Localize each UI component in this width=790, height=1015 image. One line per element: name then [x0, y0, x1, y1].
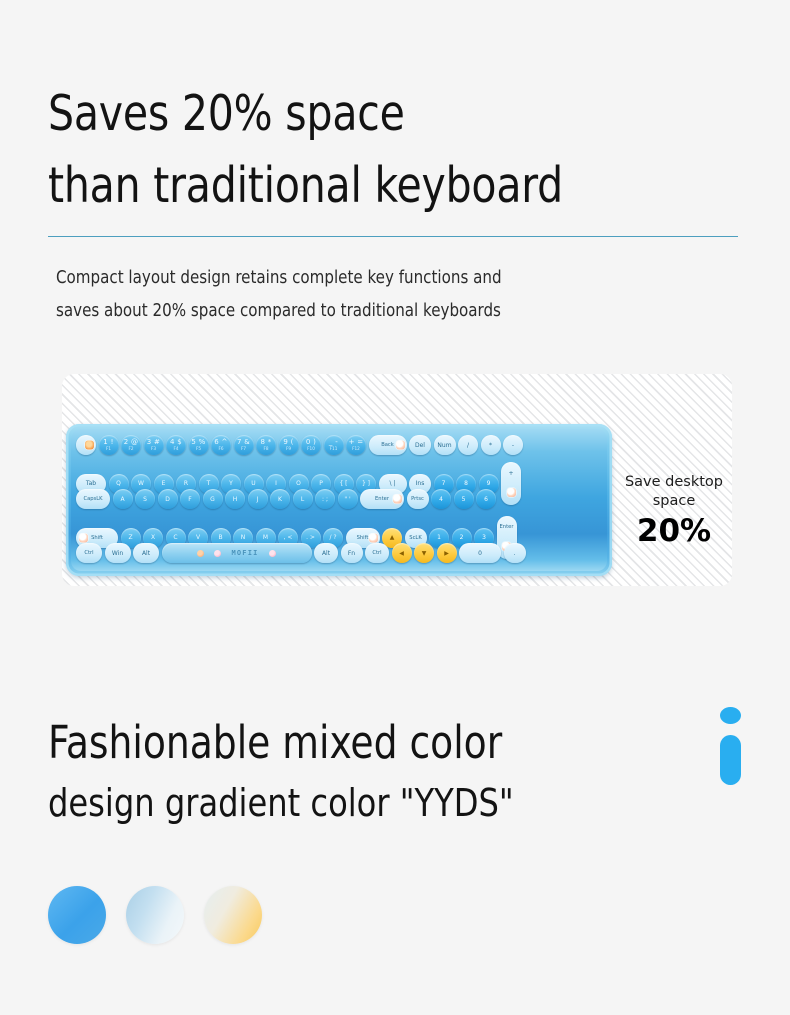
- key-label: Alt: [322, 550, 330, 557]
- headline-line-2: than traditional keyboard: [48, 150, 699, 222]
- key-label: , <: [284, 534, 293, 541]
- key-4-0-4[interactable]: 4 $F4: [166, 435, 186, 455]
- key-function-label: F11: [330, 447, 338, 451]
- key-ctrl-4-6[interactable]: Ctrl: [365, 543, 389, 563]
- key-blank-0-16[interactable]: /: [458, 435, 478, 455]
- key-label: R: [184, 480, 188, 487]
- key-label: 0: [478, 550, 482, 557]
- spacebar-sticker-right-icon: [269, 550, 276, 557]
- key-label: +: [508, 470, 513, 477]
- headline-divider: [48, 236, 738, 237]
- key-alt-4-2[interactable]: Alt: [133, 543, 159, 563]
- secondary-heading-line-2: design gradient color "YYDS": [48, 774, 668, 832]
- key-dual-label: 8 *F8: [260, 439, 271, 451]
- key-label: ◀: [399, 550, 404, 557]
- key-function-label: F4: [173, 447, 178, 451]
- key-label: / ?: [329, 534, 336, 541]
- color-swatch-amber[interactable]: [204, 886, 262, 944]
- key-label: Y: [229, 480, 233, 487]
- key-primary-label: 1 !: [103, 439, 113, 446]
- key-label: ▲: [390, 534, 395, 541]
- key-label: I: [275, 480, 277, 487]
- key-label: ▼: [422, 550, 427, 557]
- key-dual-label: 1 !F1: [103, 439, 113, 451]
- key-f-2-4[interactable]: F: [180, 489, 200, 509]
- color-swatch-blue[interactable]: [48, 886, 106, 944]
- key-s-2-2[interactable]: S: [135, 489, 155, 509]
- key-label: Enter: [500, 524, 514, 530]
- key-6-2-16[interactable]: 6: [476, 489, 496, 509]
- key-label: Num: [437, 442, 451, 449]
- key-5-0-5[interactable]: 5 %F5: [189, 435, 209, 455]
- headline-block: Saves 20% space than traditional keyboar…: [48, 78, 748, 222]
- key-label: 8: [464, 480, 468, 487]
- key-label: } ]: [362, 480, 370, 487]
- key-fn-4-5[interactable]: Fn: [341, 543, 363, 563]
- key-label: ScLK: [409, 535, 421, 541]
- key-label: F: [188, 496, 191, 503]
- key-label: Back: [381, 442, 394, 448]
- subcopy-line-2: saves about 20% space compared to tradit…: [56, 295, 728, 328]
- key-dual-label: 5 %F5: [191, 439, 205, 451]
- key-2-0-2[interactable]: 2 @F2: [121, 435, 141, 455]
- key-win-4-1[interactable]: Win: [105, 543, 131, 563]
- key-label: Shift: [357, 535, 369, 541]
- key-primary-label: 5 %: [191, 439, 205, 446]
- key-label: 2: [460, 534, 464, 541]
- key-9-0-9[interactable]: 9 (F9: [279, 435, 299, 455]
- key-1-0-1[interactable]: 1 !F1: [99, 435, 119, 455]
- color-swatch-row: [48, 886, 262, 944]
- keyboard-row-function-row: 1 !F12 @F23 #F34 $F45 %F56 ^F67 &F78 *F8…: [76, 435, 523, 455]
- key-dual-label: 4 $F4: [170, 439, 182, 451]
- key-dual-label: + =F12: [349, 439, 364, 451]
- key-blank-4-11[interactable]: .: [504, 543, 526, 563]
- key-label: N: [241, 534, 246, 541]
- key-7-0-7[interactable]: 7 &F7: [234, 435, 254, 455]
- key-alt-4-4[interactable]: Alt: [314, 543, 338, 563]
- key-label: 5: [462, 496, 466, 503]
- key-blank-0-0[interactable]: [76, 435, 96, 455]
- key-spacebar[interactable]: MOFII: [162, 543, 312, 563]
- key-label: . >: [306, 534, 315, 541]
- key-primary-label: 6 ^: [214, 439, 227, 446]
- key-0-4-10[interactable]: 0: [459, 543, 501, 563]
- key-k-2-8[interactable]: K: [270, 489, 290, 509]
- key-label: " ': [344, 496, 350, 503]
- key-3-0-3[interactable]: 3 #F3: [144, 435, 164, 455]
- key-label: G: [210, 496, 215, 503]
- key-label: T: [207, 480, 211, 487]
- key-g-2-5[interactable]: G: [203, 489, 223, 509]
- spacebar-sticker-icon: [197, 550, 204, 557]
- key-label: S: [143, 496, 147, 503]
- key-label: Prtsc: [411, 496, 424, 502]
- key-label: P: [319, 480, 323, 487]
- key-blank-0-12[interactable]: + =F12: [346, 435, 366, 455]
- key-label: 6: [484, 496, 488, 503]
- i-accent-dot-icon: [720, 707, 741, 724]
- keyboard-row-bottom-row: CtrlWinAltMOFIIAltFnCtrl◀▼▶0.: [76, 543, 526, 563]
- key-blank-2-10[interactable]: : ;: [315, 489, 335, 509]
- key-blank-4-7[interactable]: ◀: [392, 543, 412, 563]
- key-6-0-6[interactable]: 6 ^F6: [211, 435, 231, 455]
- key-label: J: [257, 496, 259, 503]
- key-label: \ |: [390, 480, 396, 487]
- key-primary-label: 7 &: [237, 439, 250, 446]
- key-label: 4: [439, 496, 443, 503]
- key-label: H: [233, 496, 238, 503]
- key-function-label: F7: [241, 447, 246, 451]
- key-function-label: F9: [286, 447, 291, 451]
- key-blank-2-11[interactable]: " ': [338, 489, 358, 509]
- key-function-label: F1: [106, 447, 111, 451]
- key-num-0-15[interactable]: Num: [434, 435, 456, 455]
- key-label: Alt: [142, 550, 150, 557]
- key-label: Ctrl: [84, 550, 93, 556]
- cat-sticker-icon: [396, 441, 405, 450]
- key-label: -: [512, 442, 514, 449]
- key-primary-label: 2 @: [124, 439, 139, 446]
- key-label: Fn: [348, 550, 355, 557]
- key-label: X: [151, 534, 155, 541]
- key-dual-label: 9 (F9: [283, 439, 293, 451]
- key-8-0-8[interactable]: 8 *F8: [256, 435, 276, 455]
- key-primary-label: 4 $: [170, 439, 182, 446]
- key-label: W: [138, 480, 144, 487]
- key-label: 3: [482, 534, 486, 541]
- cat-sticker-icon: [393, 495, 402, 504]
- key-dual-label: 6 ^F6: [214, 439, 227, 451]
- key-primary-label: 3 #: [147, 439, 160, 446]
- i-accent-stem-icon: [720, 735, 741, 785]
- key-label: CapsLK: [83, 496, 102, 502]
- key-label: B: [218, 534, 222, 541]
- key-j-2-7[interactable]: J: [248, 489, 268, 509]
- secondary-heading-line-1: Fashionable mixed color: [48, 712, 662, 774]
- keyboard-brand-label: MOFII: [231, 549, 258, 557]
- key-primary-label: _ -: [329, 439, 338, 446]
- key-label: D: [165, 496, 170, 503]
- key-4-2-14[interactable]: 4: [431, 489, 451, 509]
- key-primary-label: 9 (: [283, 439, 293, 446]
- key-back-0-13[interactable]: Back: [369, 435, 407, 455]
- key-label: Tab: [86, 480, 96, 487]
- save-note-line-1: Save desktop: [612, 473, 736, 492]
- i-accent-mark-icon: [720, 707, 742, 785]
- key-label: E: [162, 480, 166, 487]
- key-label: Q: [116, 480, 121, 487]
- key-blank-0-17[interactable]: *: [481, 435, 501, 455]
- key-blank-0-11[interactable]: _ -F11: [324, 435, 344, 455]
- key-label: C: [173, 534, 177, 541]
- bear-orange-sticker-icon: [85, 441, 94, 450]
- key-label: 7: [442, 480, 446, 487]
- key-dual-label: 0 )F10: [306, 439, 316, 451]
- save-note-percent: 20%: [612, 513, 736, 549]
- key-enter-2-12[interactable]: Enter: [360, 489, 404, 509]
- key-label: V: [196, 534, 200, 541]
- headline-line-1: Saves 20% space: [48, 78, 699, 150]
- key-label: 9: [487, 480, 491, 487]
- key-blank-4-8[interactable]: ▼: [414, 543, 434, 563]
- cat-sticker-icon: [369, 533, 378, 542]
- key-function-label: F8: [263, 447, 268, 451]
- key-label: 1: [437, 534, 441, 541]
- key-ctrl-4-0[interactable]: Ctrl: [76, 543, 102, 563]
- cat-sticker-icon: [507, 488, 516, 497]
- key-primary-label: + =: [349, 439, 364, 446]
- key-label: ▶: [444, 550, 449, 557]
- key-label: M: [263, 534, 268, 541]
- key-5-2-15[interactable]: 5: [454, 489, 474, 509]
- key-label: .: [514, 550, 516, 557]
- save-space-annotation: Save desktop space 20%: [612, 473, 736, 549]
- key-label: : ;: [322, 496, 328, 503]
- key-label: O: [296, 480, 301, 487]
- key-function-label: F2: [128, 447, 133, 451]
- key-blank-0-18[interactable]: -: [503, 435, 523, 455]
- key-label: K: [278, 496, 282, 503]
- key-label: Ctrl: [372, 550, 381, 556]
- key-label: L: [301, 496, 304, 503]
- key-label: Enter: [375, 496, 389, 502]
- key-h-2-6[interactable]: H: [225, 489, 245, 509]
- key-label: A: [120, 496, 124, 503]
- key-primary-label: 8 *: [260, 439, 271, 446]
- key-label: { [: [339, 480, 347, 487]
- keyboard-body: 1 !F12 @F23 #F34 $F45 %F56 ^F67 &F78 *F8…: [71, 429, 607, 571]
- secondary-heading-block: Fashionable mixed color design gradient …: [48, 712, 708, 832]
- key-function-label: F12: [352, 447, 360, 451]
- key-dual-label: 2 @F2: [124, 439, 139, 451]
- key-function-label: F5: [196, 447, 201, 451]
- key-label: Del: [415, 442, 425, 449]
- key-label: U: [251, 480, 255, 487]
- key-primary-label: 0 ): [306, 439, 316, 446]
- key-label: Win: [112, 550, 123, 557]
- key-del-0-14[interactable]: Del: [409, 435, 431, 455]
- save-note-line-2: space: [612, 492, 736, 511]
- key-l-2-9[interactable]: L: [293, 489, 313, 509]
- subcopy-line-1: Compact layout design retains complete k…: [56, 262, 728, 295]
- key-blank-4-9[interactable]: ▶: [437, 543, 457, 563]
- keyboard-product-image: 1 !F12 @F23 #F34 $F45 %F56 ^F67 &F78 *F8…: [66, 424, 612, 576]
- key-label: Ins: [416, 480, 425, 487]
- key-prtsc-2-13[interactable]: Prtsc: [407, 489, 429, 509]
- key-function-label: F10: [307, 447, 315, 451]
- key-dual-label: 3 #F3: [147, 439, 160, 451]
- keyboard-row-home-row: CapsLKASDFGHJKL: ;" 'EnterPrtsc456: [76, 489, 496, 509]
- spacebar-cat-sticker-icon: [214, 550, 221, 557]
- keyboard-rows: 1 !F12 @F23 #F34 $F45 %F56 ^F67 &F78 *F8…: [71, 429, 607, 571]
- key-function-label: F3: [151, 447, 156, 451]
- key-capslk-2-0[interactable]: CapsLK: [76, 489, 110, 509]
- key-dual-label: 7 &F7: [237, 439, 250, 451]
- subcopy-block: Compact layout design retains complete k…: [56, 262, 756, 328]
- key-label: Shift: [91, 535, 103, 541]
- key-dual-label: _ -F11: [329, 439, 338, 451]
- bear-left-sticker-icon: [79, 533, 88, 542]
- key-function-label: F6: [218, 447, 223, 451]
- key-0-0-10[interactable]: 0 )F10: [301, 435, 321, 455]
- key-label: *: [489, 442, 492, 449]
- key-label: /: [467, 442, 469, 449]
- key-blank-1-18[interactable]: +: [501, 462, 521, 505]
- key-label: Z: [128, 534, 132, 541]
- color-swatch-blue-white[interactable]: [126, 886, 184, 944]
- key-a-2-1[interactable]: A: [113, 489, 133, 509]
- key-d-2-3[interactable]: D: [158, 489, 178, 509]
